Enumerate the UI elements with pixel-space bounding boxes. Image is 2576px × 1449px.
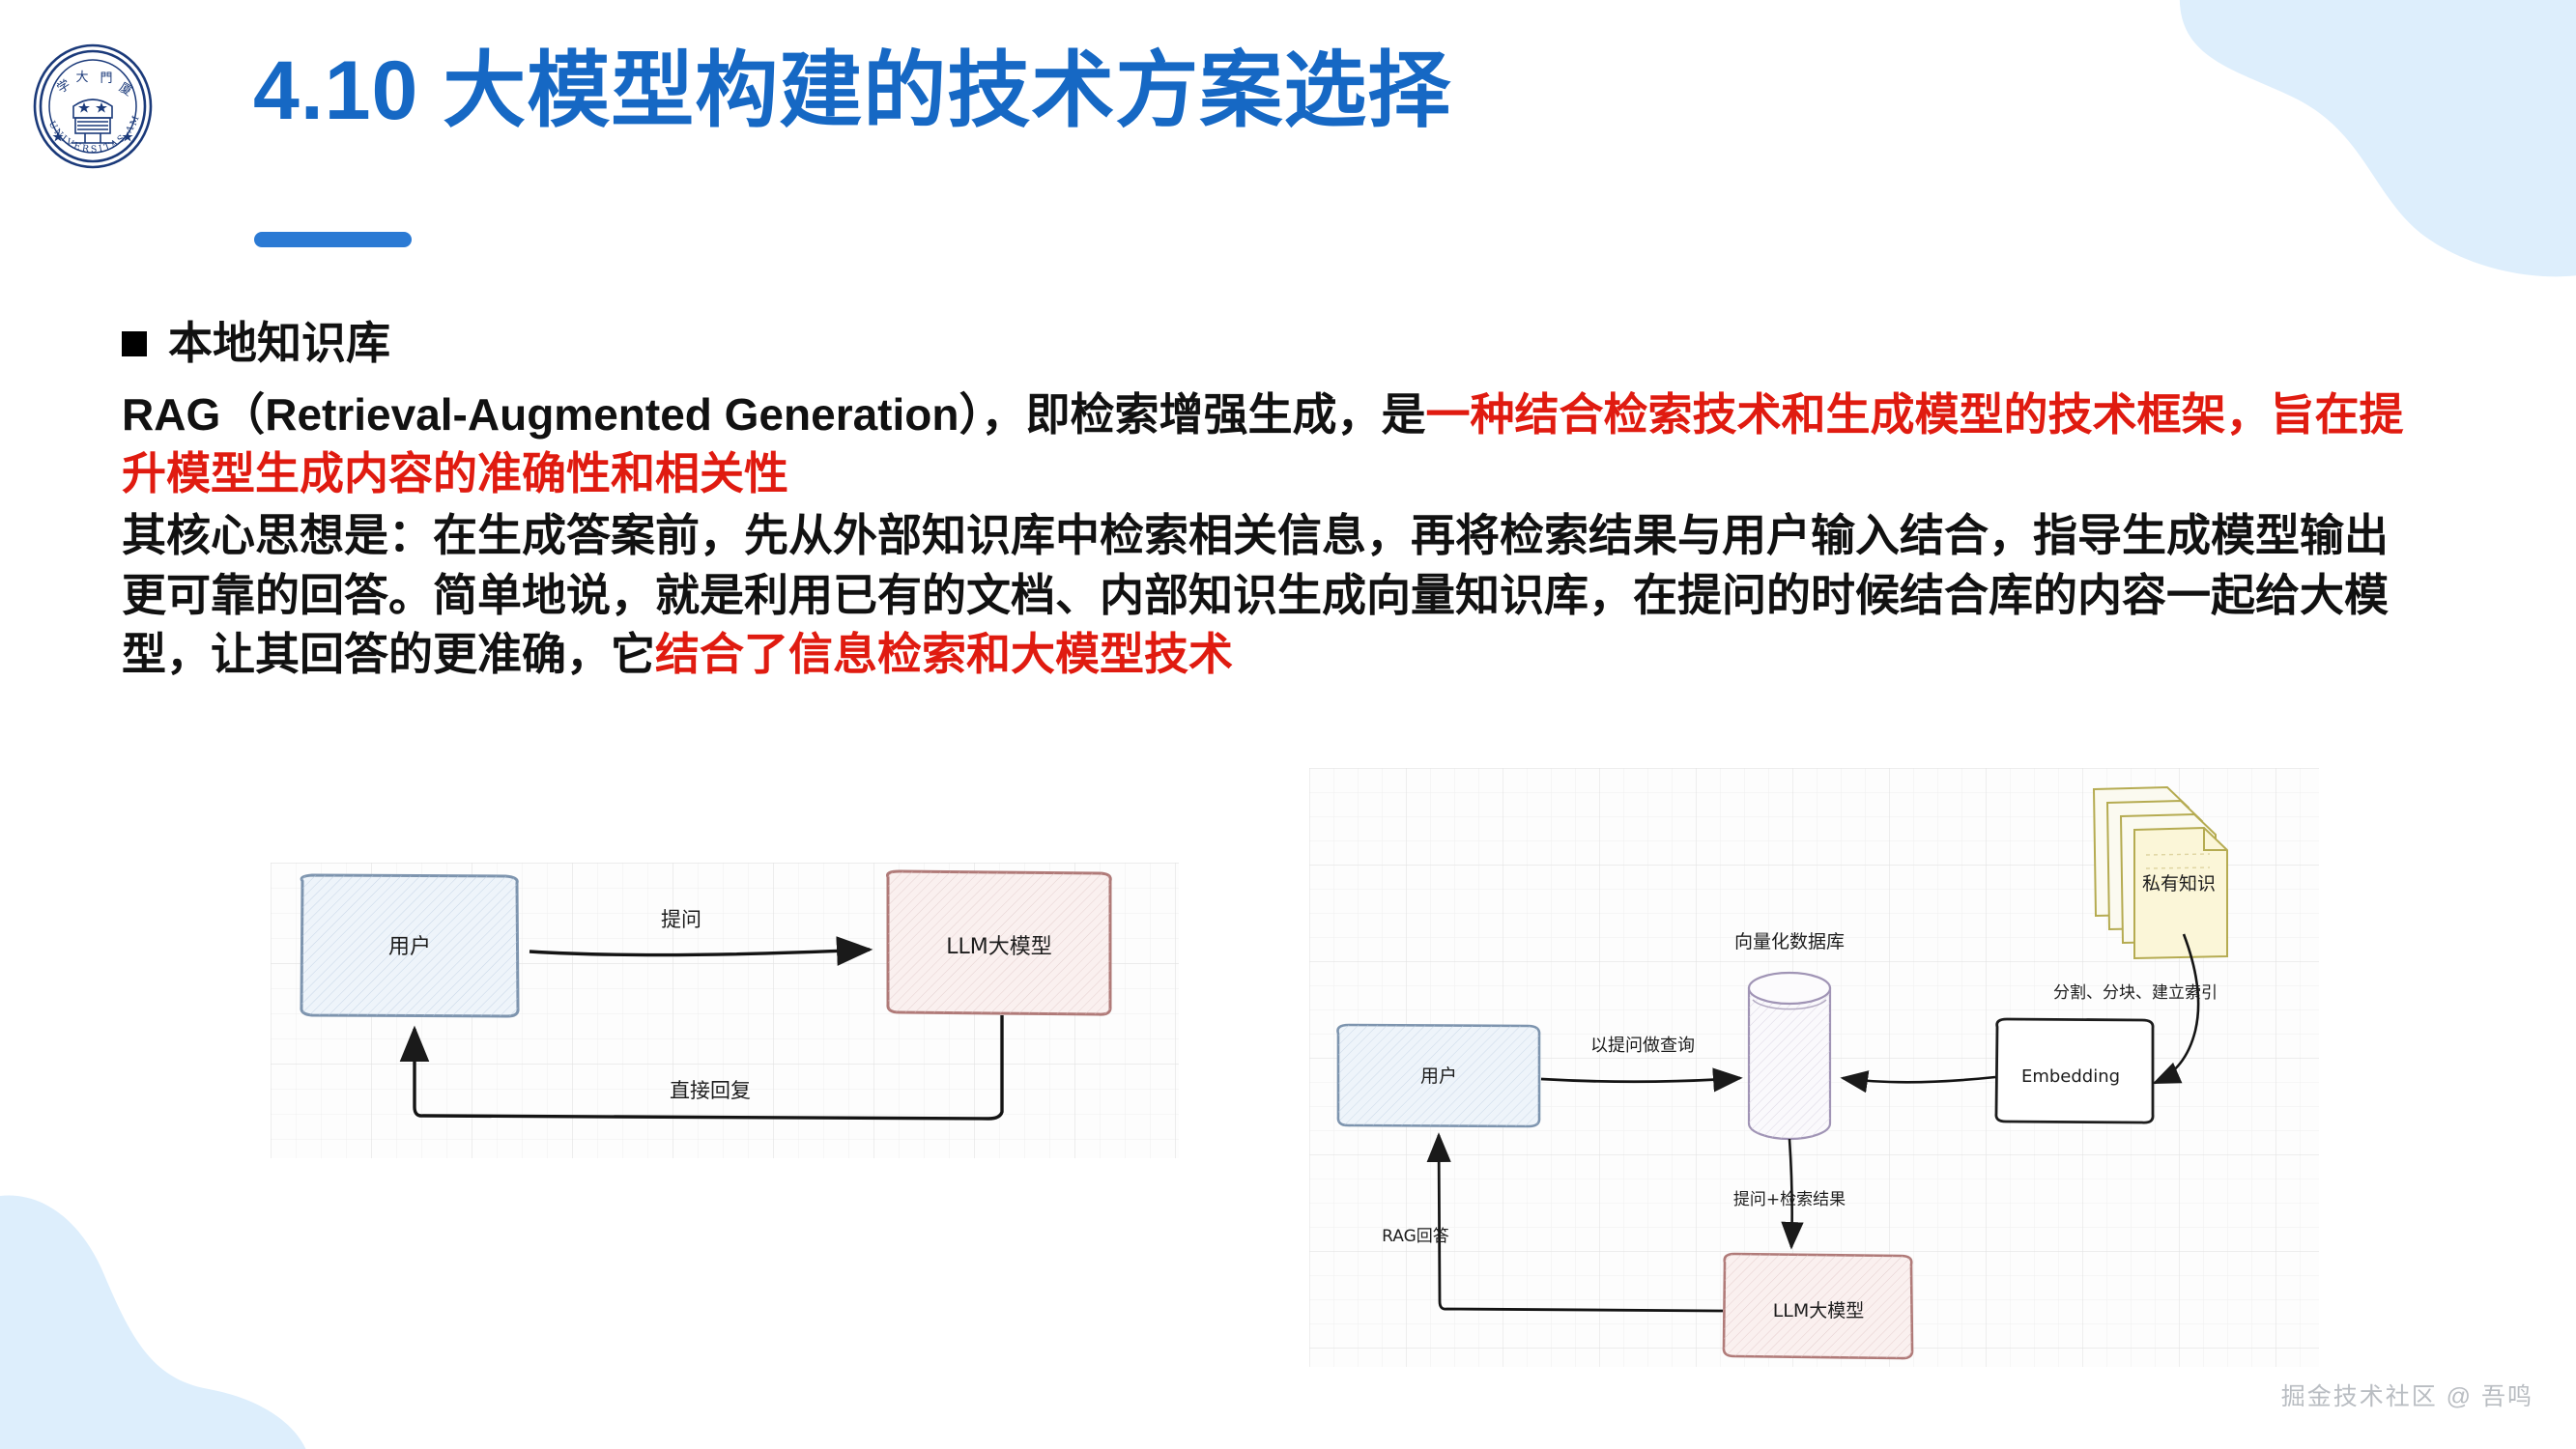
node-llm: LLM大模型 [888, 871, 1111, 1014]
diagram-left-canvas: 用户 LLM大模型 提问 直接回复 [271, 863, 1179, 1158]
edge-query-label: 以提问做查询 [1590, 1036, 1695, 1056]
bullet-heading-text: 本地知识库 [168, 314, 390, 374]
bullet-heading-row: 本地知识库 [122, 314, 2421, 374]
svg-text:厦: 厦 [116, 80, 134, 99]
watermark: 掘金技术社区 @ 吾鸣 [2281, 1378, 2533, 1412]
node-user: 用户 [301, 875, 518, 1016]
node-user-label: 用户 [388, 935, 431, 959]
node-embedding-label: Embedding [2021, 1066, 2120, 1087]
edge-question-label: 提问 [661, 908, 701, 931]
node-private-knowledge-label: 私有知识 [2142, 873, 2216, 895]
paragraph-rag-definition: RAG（Retrieval-Augmented Generation），即检索增… [122, 385, 2421, 504]
slide-root: 学 大 門 厦 UNIVERSITAS AMOI [0, 0, 2576, 1449]
diagram-rag: 用户 向量化数据库 Embedding [1309, 768, 2319, 1367]
paragraph-rag-core-idea: 其核心思想是：在生成答案前，先从外部知识库中检索相关信息，再将检索结果与用户输入… [122, 506, 2421, 685]
diagram-right-canvas: 用户 向量化数据库 Embedding [1309, 768, 2319, 1367]
paragraph-2-plain: 其核心思想是：在生成答案前，先从外部知识库中检索相关信息，再将检索结果与用户输入… [122, 510, 2389, 679]
svg-text:大: 大 [75, 71, 88, 85]
decorative-blob-bottom-left [0, 1111, 317, 1449]
edge-rag-answer-label: RAG回答 [1382, 1227, 1449, 1246]
decorative-blob-top-right [2170, 0, 2576, 292]
svg-text:門: 門 [100, 71, 112, 86]
edge-split-chunk-index-label: 分割、分块、建立索引 [2053, 983, 2218, 1003]
node-user-label: 用户 [1420, 1065, 1457, 1087]
university-seal-logo: 学 大 門 厦 UNIVERSITAS AMOI [29, 43, 157, 170]
node-embedding: Embedding [1996, 1019, 2153, 1122]
diagram-direct-llm: 用户 LLM大模型 提问 直接回复 [271, 863, 1179, 1158]
node-user: 用户 [1337, 1025, 1539, 1126]
node-llm-label: LLM大模型 [1773, 1300, 1865, 1321]
node-vector-database-label: 向量化数据库 [1734, 931, 1845, 952]
paragraph-1-plain: RAG（Retrieval-Augmented Generation），即检索增… [122, 389, 1425, 440]
node-llm-label: LLM大模型 [946, 935, 1052, 959]
paragraph-2-highlight: 结合了信息检索和大模型技术 [655, 629, 1233, 679]
node-llm: LLM大模型 [1724, 1254, 1912, 1358]
square-bullet-icon [122, 331, 147, 356]
edge-direct-reply-label: 直接回复 [670, 1079, 751, 1102]
edge-question-plus-results-label: 提问+检索结果 [1733, 1190, 1846, 1209]
page-title: 4.10 大模型构建的技术方案选择 [253, 46, 1451, 136]
title-underline-rule [254, 232, 412, 247]
body-copy: 本地知识库 RAG（Retrieval-Augmented Generation… [122, 314, 2421, 687]
